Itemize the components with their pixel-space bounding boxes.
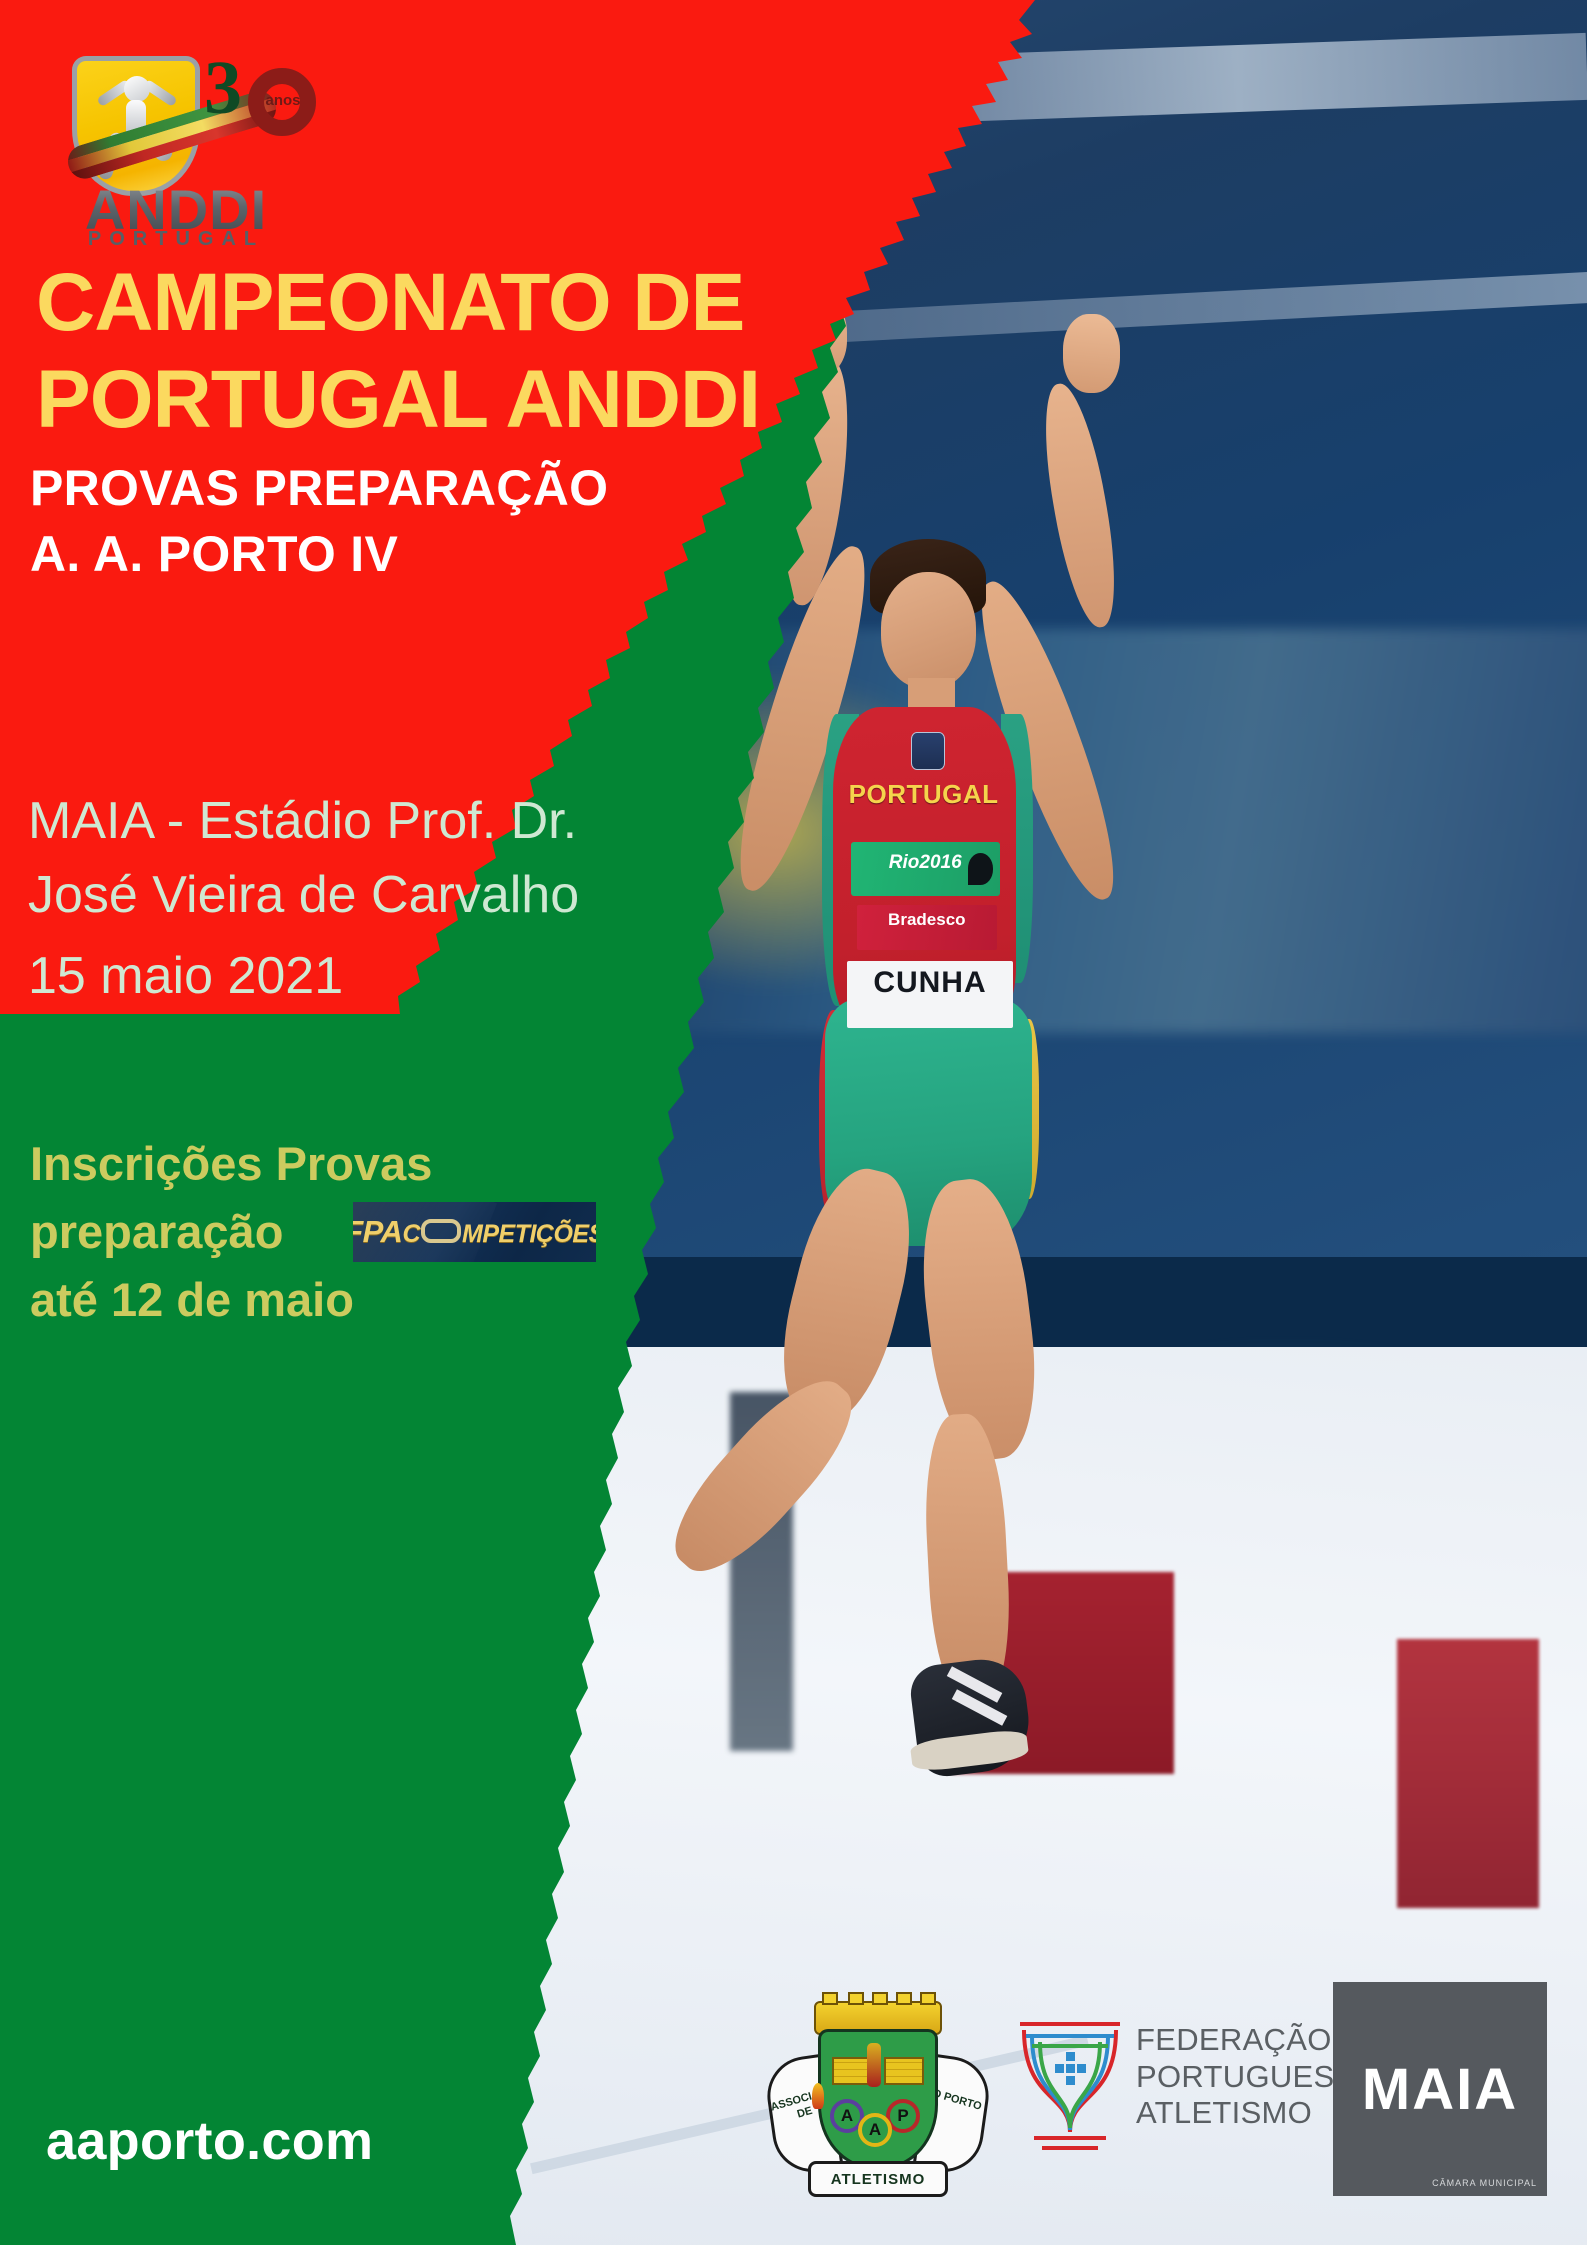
registration-line-1: Inscrições Provas [30, 1130, 590, 1198]
anddi-logo: 3 anos ANDDI PORTUGAL [36, 22, 296, 237]
anddi-country-label: PORTUGAL [68, 228, 284, 251]
crest-ring-a-bottom: A [858, 2113, 892, 2147]
fpa-cup-icon [1010, 2002, 1130, 2162]
federacao-line-3: ATLETISMO [1136, 2095, 1346, 2132]
crest-bottom-banner: ATLETISMO [808, 2161, 948, 2197]
title-line-1: CAMPEONATO DE [36, 255, 1036, 352]
poster-title: CAMPEONATO DE PORTUGAL ANDDI [36, 255, 1036, 449]
federacao-line-1: FEDERAÇÃO [1136, 2022, 1346, 2059]
venue-block: MAIA - Estádio Prof. Dr. José Vieira de … [28, 785, 928, 933]
crest-bottom-banner-text: ATLETISMO [831, 2171, 926, 2188]
crest-rings-group: A P A [830, 2099, 930, 2145]
crest-tower-figure [867, 2043, 881, 2087]
castle-icon-right [884, 2057, 924, 2085]
anniversary-word: anos [262, 92, 304, 109]
castle-icon-left [832, 2057, 872, 2085]
subtitle-line-1: PROVAS PREPARAÇÃO [30, 455, 1030, 521]
federacao-line-2: PORTUGUESA [1136, 2059, 1346, 2096]
figure-head [124, 76, 150, 102]
aap-crest-logo: ASSOCIAÇÃO DE DO PORTO A P A ATLETISMO [762, 1965, 994, 2225]
federacao-portuguesa-atletismo-logo: FEDERAÇÃO PORTUGUESA ATLETISMO [1010, 2000, 1340, 2180]
registration-line-3: até 12 de maio [30, 1266, 590, 1334]
track-oval-icon [421, 1219, 461, 1243]
fpa-competicoes-wordmark: FPACMPETIÇÕES [353, 1214, 596, 1250]
title-line-2: PORTUGAL ANDDI [36, 352, 1036, 449]
anniversary-number: 3 [204, 50, 242, 126]
fpa-word-end: MPETIÇÕES [462, 1220, 596, 1248]
subtitle-line-2: A. A. PORTO IV [30, 521, 1030, 587]
fpa-word-start: C [402, 1220, 420, 1248]
poster-content-layer: 3 anos ANDDI PORTUGAL CAMPEONATO DE PORT… [0, 0, 1587, 2245]
federacao-wordmark: FEDERAÇÃO PORTUGUESA ATLETISMO [1136, 2022, 1346, 2132]
crest-torch-icon [812, 2083, 824, 2109]
event-date: 15 maio 2021 [28, 940, 928, 1013]
maia-wordmark: MAIA [1362, 2056, 1518, 2123]
maia-subtitle: CÂMARA MUNICIPAL [1432, 2178, 1537, 2188]
fpa-prefix: FPA [353, 1214, 402, 1249]
website-url[interactable]: aaporto.com [46, 2110, 373, 2172]
poster-subtitle: PROVAS PREPARAÇÃO A. A. PORTO IV [30, 455, 1030, 587]
maia-municipality-logo: MAIA CÂMARA MUNICIPAL [1333, 1982, 1547, 2196]
event-poster: PORTUGAL Rio2016 Bradesco CUNHA [0, 0, 1587, 2245]
venue-line-1: MAIA - Estádio Prof. Dr. [28, 785, 928, 859]
venue-line-2: José Vieira de Carvalho [28, 859, 928, 933]
anniversary-30-icon: 3 anos [204, 48, 314, 140]
fpa-competicoes-badge[interactable]: FPACMPETIÇÕES [353, 1202, 596, 1262]
